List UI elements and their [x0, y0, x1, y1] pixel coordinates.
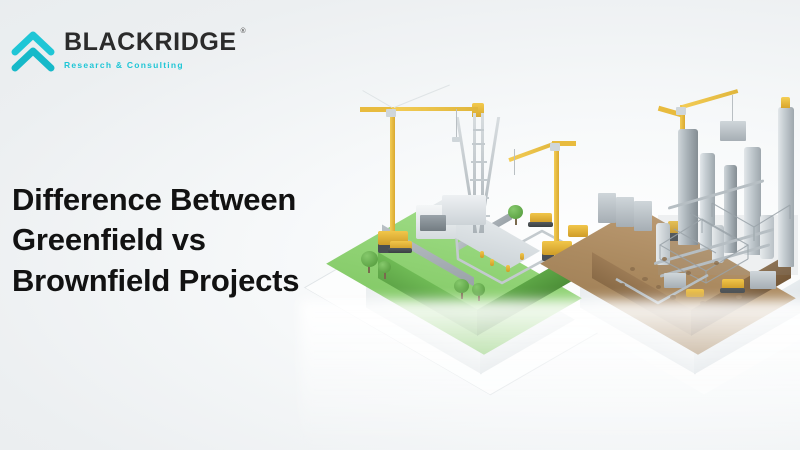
crawler-crane [568, 225, 588, 237]
dump-truck-bed [388, 248, 412, 253]
banner: BLACKRIDGE ® Research & Consulting Diffe… [0, 0, 800, 450]
worker [506, 265, 510, 272]
debris [642, 277, 648, 281]
brand-logo-text: BLACKRIDGE ® Research & Consulting [64, 30, 237, 70]
worker [490, 259, 494, 266]
tower-crane-left [356, 73, 486, 263]
brand-wordmark: BLACKRIDGE ® [64, 30, 237, 55]
worker [520, 253, 524, 260]
flare-tip [781, 97, 790, 108]
brand-logo[interactable]: BLACKRIDGE ® Research & Consulting [8, 26, 218, 84]
debris [714, 261, 719, 265]
debris [662, 257, 667, 261]
debris [620, 283, 625, 287]
tree [454, 279, 470, 299]
storage-building [598, 193, 616, 223]
tree [472, 283, 486, 301]
debris [736, 295, 742, 299]
tree [508, 205, 524, 225]
service-vehicle [686, 289, 704, 297]
tree [360, 251, 378, 273]
debris [656, 285, 661, 289]
double-chevron-up-icon [10, 28, 58, 74]
worker [480, 251, 484, 258]
brand-tagline: Research & Consulting [64, 60, 237, 70]
tree [378, 261, 392, 279]
excavator-tracks [720, 288, 745, 293]
debris [630, 267, 635, 271]
debris [686, 271, 691, 275]
registered-trademark-symbol: ® [241, 28, 246, 35]
hero-illustration [330, 55, 800, 375]
brand-name: BLACKRIDGE [64, 28, 237, 56]
debris [700, 301, 706, 305]
debris [670, 295, 676, 300]
excavator-tracks [528, 222, 553, 227]
